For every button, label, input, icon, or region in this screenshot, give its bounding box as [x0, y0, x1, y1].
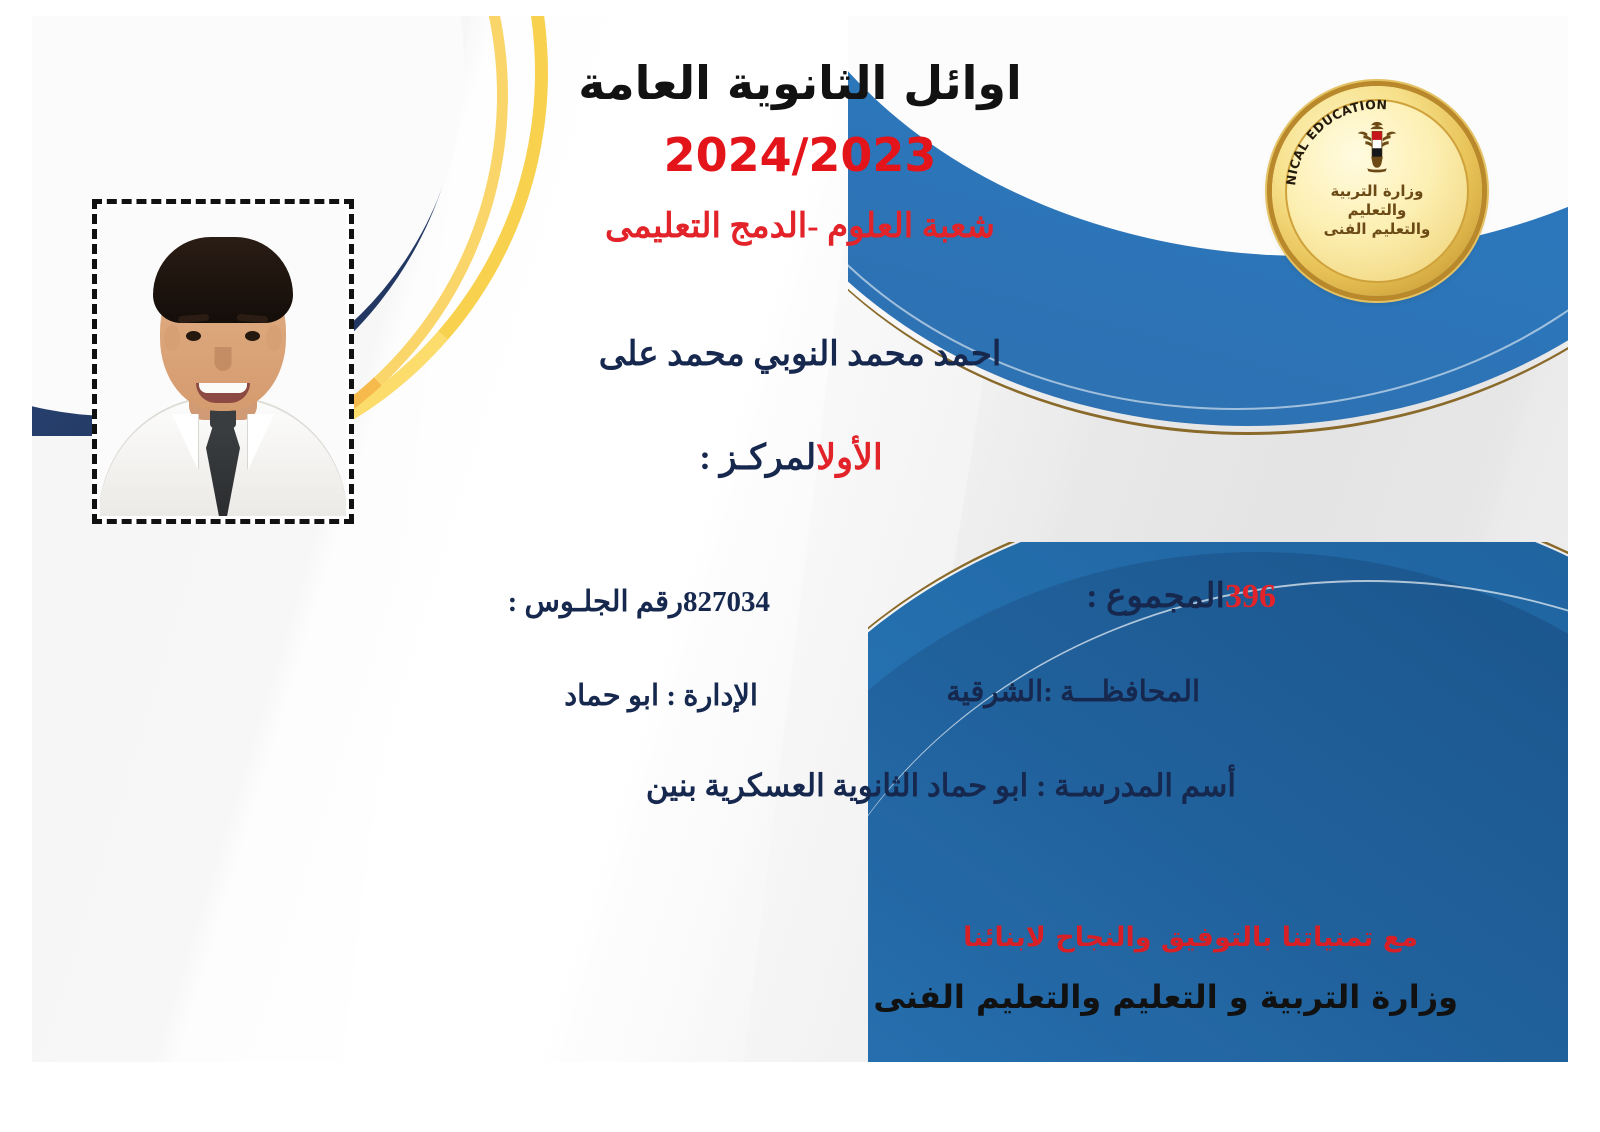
branch-label: شعبة العلوم -الدمج التعليمى	[32, 206, 1568, 246]
certificate-page: MINISTRY OF EDUCATION AND TECHNICAL EDUC…	[0, 0, 1600, 1132]
page-title: اوائل الثانوية العامة	[32, 56, 1568, 110]
total-row: 396المجموع :	[1086, 576, 1300, 616]
rank-value: الأول	[816, 438, 883, 477]
student-name: احمد محمد النوبي محمد على	[32, 334, 1568, 374]
total-value: 396	[1225, 578, 1276, 615]
photo-teeth	[199, 383, 247, 393]
certificate-card: MINISTRY OF EDUCATION AND TECHNICAL EDUC…	[32, 16, 1568, 1062]
ministry-text: وزارة التربية و التعليم والتعليم الفنى	[873, 978, 1458, 1016]
ministry-medal: MINISTRY OF EDUCATION AND TECHNICAL EDUC…	[1272, 86, 1482, 296]
seat-number-value: 827034	[683, 586, 770, 619]
school-value: ابو حماد الثانوية العسكرية بنين	[646, 768, 1028, 803]
administration-value: ابو حماد	[564, 680, 659, 712]
photo-tie-knot	[210, 408, 236, 428]
total-label: المجموع :	[1086, 578, 1225, 615]
governorate-value: الشرقية	[946, 676, 1043, 708]
governorate-label: المحافظـــة :	[1043, 676, 1200, 708]
administration-row: الإدارة : ابو حماد	[564, 678, 758, 713]
photo-hair	[153, 237, 293, 323]
rank-row: الأولالمركـز :	[32, 438, 1568, 478]
governorate-row: المحافظـــة :الشرقية	[946, 674, 1200, 709]
rank-label: المركـز :	[699, 438, 816, 477]
school-row: أسم المدرسـة : ابو حماد الثانوية العسكري…	[646, 768, 1236, 804]
school-label: أسم المدرسـة :	[1036, 768, 1236, 803]
administration-label: الإدارة :	[666, 680, 758, 712]
seat-number-label: رقم الجلـوس :	[508, 586, 683, 618]
academic-year: 2024/2023	[32, 128, 1568, 182]
wish-text: مع تمنياتنا بالتوفيق والنجاح لابنائنا	[963, 922, 1418, 953]
seat-number-row: 827034رقم الجلـوس :	[508, 584, 776, 619]
